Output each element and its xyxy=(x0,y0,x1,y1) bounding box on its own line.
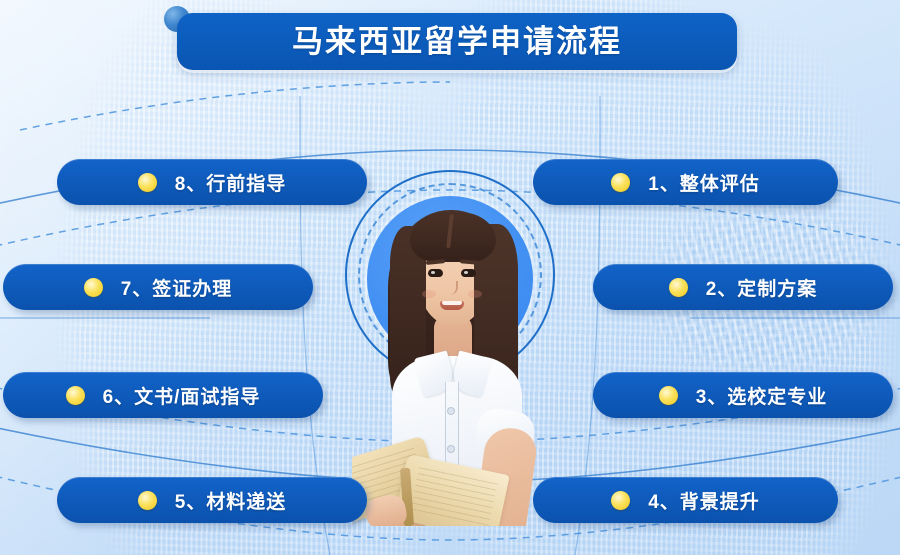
step-label-1: 1、整体评估 xyxy=(648,169,760,196)
photo-shirt-button xyxy=(448,408,454,414)
step-label-5: 5、材料递送 xyxy=(175,487,287,514)
photo-teeth xyxy=(442,301,462,305)
yellow-dot-icon xyxy=(66,386,85,405)
step-item-1[interactable]: 1、整体评估 xyxy=(533,159,838,205)
photo-shirt-button xyxy=(448,446,454,452)
step-label-6: 6、文书/面试指导 xyxy=(103,382,261,409)
step-label-3: 3、选校定专业 xyxy=(696,382,828,409)
yellow-dot-icon xyxy=(138,491,157,510)
step-item-6[interactable]: 6、文书/面试指导 xyxy=(3,372,323,418)
step-label-2: 2、定制方案 xyxy=(706,274,818,301)
step-label-4: 4、背景提升 xyxy=(648,487,760,514)
yellow-dot-icon xyxy=(138,173,157,192)
photo-cheek-left xyxy=(422,290,436,298)
photo-cheek-right xyxy=(468,290,482,298)
step-item-8[interactable]: 8、行前指导 xyxy=(57,159,367,205)
yellow-dot-icon xyxy=(659,386,678,405)
page-title: 马来西亚留学申请流程 xyxy=(292,26,622,57)
photo-eye-highlight-left xyxy=(431,271,435,274)
step-item-3[interactable]: 3、选校定专业 xyxy=(593,372,893,418)
photo-eye-highlight-right xyxy=(464,271,468,274)
poster-title-bar: 马来西亚留学申请流程 xyxy=(177,13,737,70)
yellow-dot-icon xyxy=(669,278,688,297)
yellow-dot-icon xyxy=(611,173,630,192)
step-item-2[interactable]: 2、定制方案 xyxy=(593,264,893,310)
yellow-dot-icon xyxy=(84,278,103,297)
step-item-4[interactable]: 4、背景提升 xyxy=(533,477,838,523)
poster-canvas: 马来西亚留学申请流程 xyxy=(0,0,900,555)
yellow-dot-icon xyxy=(611,491,630,510)
step-label-7: 7、签证办理 xyxy=(121,274,233,301)
step-item-7[interactable]: 7、签证办理 xyxy=(3,264,313,310)
student-photo xyxy=(352,196,552,526)
step-item-5[interactable]: 5、材料递送 xyxy=(57,477,367,523)
step-label-8: 8、行前指导 xyxy=(175,169,287,196)
